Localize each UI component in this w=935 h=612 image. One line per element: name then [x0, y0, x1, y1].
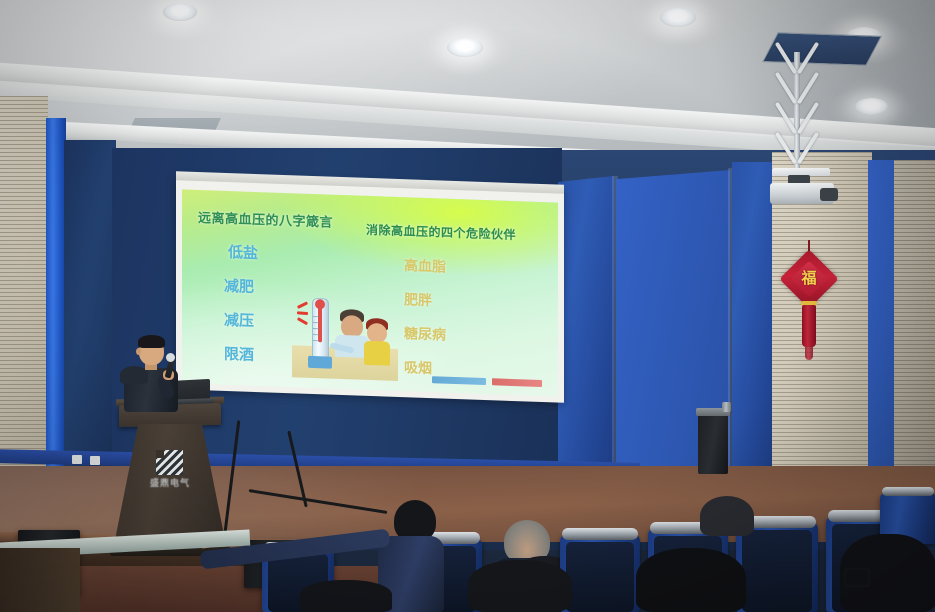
thermometer-tick-1	[313, 316, 319, 317]
speaker-hair	[138, 335, 165, 348]
attendee-4	[700, 496, 758, 536]
thermometer-tick-2	[313, 322, 319, 323]
slide-right-item-2: 糖尿病	[404, 323, 446, 344]
slide-right-item-3: 吸烟	[404, 357, 432, 378]
trash-bin-ashtray	[722, 402, 731, 412]
attendee-glasses	[844, 568, 870, 587]
slide-illustration	[292, 293, 398, 381]
seat-cushion	[742, 530, 812, 612]
illustration-spark-2	[297, 311, 308, 315]
slide-right-item-1: 肥胖	[404, 289, 432, 310]
slide-watermark-right	[492, 378, 542, 387]
attendee-head	[300, 580, 392, 612]
slide-watermark-left	[432, 376, 486, 385]
podium-brand-text: 盛鼎电气	[144, 476, 196, 489]
lift-arm-4b	[797, 132, 819, 165]
speaker-shoulder-left	[120, 366, 148, 384]
speaker-ear	[136, 348, 141, 355]
illustration-spark-3	[297, 317, 308, 325]
wall-panel-r1	[558, 176, 614, 476]
seat-top-rail	[562, 528, 638, 540]
cartoon-person-b-body	[364, 341, 390, 366]
ceiling-light-5	[855, 98, 888, 115]
seat-top-rail	[882, 487, 934, 496]
acoustic-wall-left	[0, 96, 48, 476]
trash-bin	[698, 414, 728, 474]
projected-slide: 远离高血压的八字箴言 消除高血压的四个危险伙伴 低盐 减肥 减压 限酒 高血脂 …	[182, 189, 558, 396]
lift-arm-3b	[797, 102, 819, 135]
wall-panel-r3	[732, 162, 774, 476]
thermometer-bulb	[315, 299, 325, 309]
wall-panel-left	[64, 140, 116, 470]
ceiling-light-3	[660, 8, 696, 27]
illustration-spark-1	[297, 301, 308, 309]
wall-column-left	[46, 118, 66, 476]
attendee-head	[468, 560, 572, 612]
podium-logo-notch	[156, 450, 164, 458]
slide-left-item-0: 低盐	[228, 241, 258, 263]
thermometer-tick-5	[313, 340, 319, 341]
attendee-5	[468, 560, 578, 612]
projector-lens	[820, 188, 838, 201]
thermometer-tick-4	[313, 334, 319, 335]
ceiling-light-1	[163, 3, 197, 21]
slide-left-item-2: 减压	[224, 309, 254, 331]
lift-arm-2b	[797, 72, 819, 105]
thermometer-tick-3	[313, 328, 319, 329]
slide-header-right: 消除高血压的四个危险伙伴	[366, 221, 516, 243]
attendee-7	[840, 534, 935, 612]
ceiling-light-2	[447, 38, 483, 57]
knot-tassel	[802, 305, 816, 347]
auditorium-photo: 福 远离高血压的八字箴言 消除高血压的四个危险伙伴 低盐 减肥 减压 限酒 高血…	[0, 0, 935, 612]
knot-fu-character: 福	[799, 269, 819, 288]
front-desk-side	[0, 548, 80, 612]
slide-header-left: 远离高血压的八字箴言	[198, 207, 333, 231]
slide-left-item-1: 减肥	[224, 275, 254, 297]
acoustic-wall-far-right	[894, 160, 935, 482]
wall-panel-r4	[868, 160, 896, 482]
attendee-8	[300, 580, 396, 612]
slide-left-item-3: 限酒	[224, 343, 254, 365]
knot-tassel-tip	[805, 346, 813, 360]
attendee-head	[636, 548, 746, 612]
microphone-head	[166, 353, 175, 362]
wall-outlet-1	[72, 455, 82, 464]
wall-outlet-2	[90, 456, 100, 465]
slide-right-item-0: 高血脂	[404, 255, 446, 276]
attendee-head	[700, 496, 754, 536]
attendee-6	[636, 548, 752, 612]
projector-scissor-lift	[762, 52, 838, 172]
thermometer-stand	[308, 356, 332, 369]
